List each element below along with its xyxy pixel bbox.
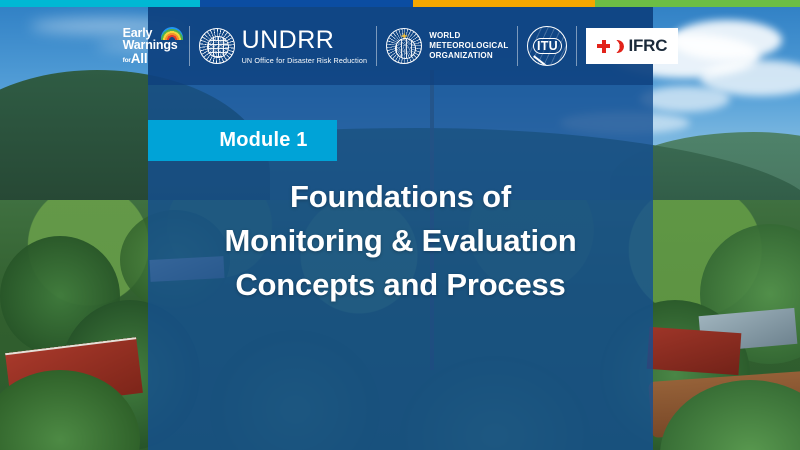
- un-emblem-icon: [199, 28, 235, 64]
- stripe-segment-green: [595, 0, 800, 7]
- logo-early-warnings-for-all[interactable]: Early Warnings forAll: [114, 7, 189, 85]
- module-badge-label: Module 1: [177, 129, 307, 152]
- cloud: [672, 20, 782, 60]
- partner-logo-bar: Early Warnings forAll UNDRR UN Office fo…: [148, 7, 653, 85]
- wmo-line3: ORGANIZATION: [429, 51, 508, 61]
- ew4all-wordmark: Early Warnings forAll: [123, 27, 180, 65]
- ew4all-line3-main: All: [131, 51, 148, 66]
- accent-stripe: [0, 0, 800, 7]
- logo-wmo[interactable]: WORLD METEOROLOGICAL ORGANIZATION: [377, 7, 517, 85]
- title-line-1: Foundations of: [148, 175, 653, 219]
- stripe-segment-dark-blue: [200, 0, 413, 7]
- title-line-3: Concepts and Process: [148, 263, 653, 307]
- undrr-acronym: UNDRR: [242, 28, 368, 53]
- logo-ifrc[interactable]: IFRC: [577, 7, 687, 85]
- wmo-line2: METEOROLOGICAL: [429, 41, 508, 51]
- ew4all-line3: forAll: [123, 52, 178, 65]
- red-roof: [647, 327, 742, 375]
- itu-globe-icon: ITU: [527, 26, 567, 66]
- title-line-2: Monitoring & Evaluation: [148, 219, 653, 263]
- undrr-wordmark: UNDRR UN Office for Disaster Risk Reduct…: [242, 28, 368, 65]
- wmo-line1: WORLD: [429, 31, 508, 41]
- itu-bolt-icon: [534, 55, 548, 66]
- wmo-emblem-icon: [386, 28, 422, 64]
- wmo-wordmark: WORLD METEOROLOGICAL ORGANIZATION: [429, 31, 508, 62]
- red-cross-icon: [597, 40, 610, 53]
- logo-itu[interactable]: ITU: [518, 7, 576, 85]
- undrr-subtitle: UN Office for Disaster Risk Reduction: [242, 56, 368, 65]
- page-title: Foundations of Monitoring & Evaluation C…: [148, 175, 653, 307]
- ifrc-marks: [597, 40, 624, 53]
- itu-acronym: ITU: [533, 38, 562, 54]
- ew4all-line3-small: for: [123, 57, 131, 64]
- module-badge: Module 1: [148, 120, 337, 161]
- logo-undrr[interactable]: UNDRR UN Office for Disaster Risk Reduct…: [190, 7, 377, 85]
- ifrc-acronym: IFRC: [628, 36, 667, 56]
- title-slide: Early Warnings forAll UNDRR UN Office fo…: [0, 0, 800, 450]
- stripe-segment-orange: [413, 0, 595, 7]
- ifrc-box: IFRC: [586, 28, 678, 64]
- rainbow-icon: [161, 27, 183, 40]
- cloud: [640, 86, 730, 112]
- red-crescent-icon: [611, 40, 624, 53]
- stripe-segment-cyan: [0, 0, 200, 7]
